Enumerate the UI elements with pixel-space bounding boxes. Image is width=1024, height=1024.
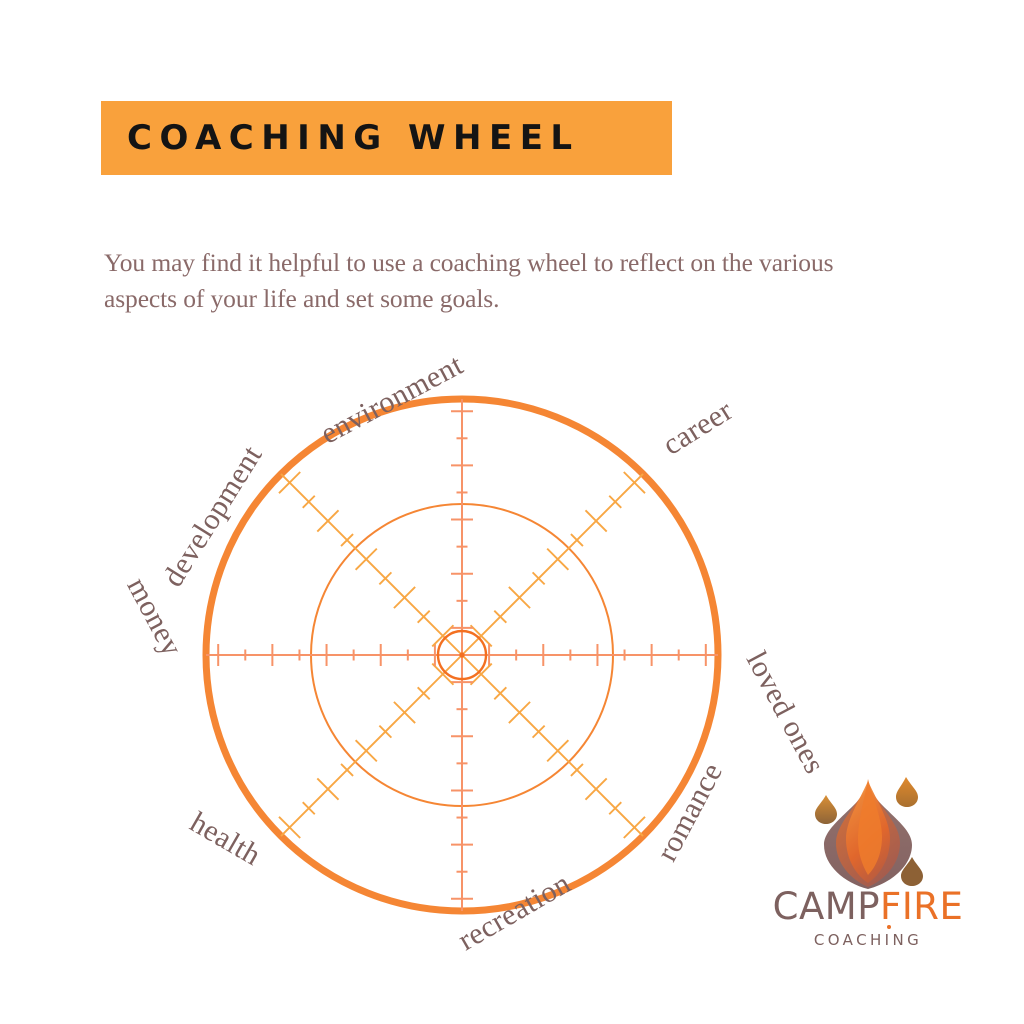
wheel-spoke-romance xyxy=(462,655,645,838)
logo-subtitle-part-b: NG xyxy=(892,931,922,949)
wheel-label-development: development xyxy=(156,440,269,593)
wheel-center-dot xyxy=(459,652,464,657)
wheel-label-health: health xyxy=(184,806,266,872)
logo-word-fire: FIRE xyxy=(880,885,963,928)
logo-word-camp: CAMP xyxy=(773,885,880,928)
campfire-logo: CAMPFIRE COACHING xyxy=(752,775,984,970)
logo-subtitle-i: I xyxy=(885,931,893,949)
wheel-spoke-recreation xyxy=(451,655,473,911)
wheel-spoke-development xyxy=(279,472,462,655)
page-title: COACHING WHEEL xyxy=(101,121,580,155)
logo-subtitle: COACHING xyxy=(752,933,984,948)
wheel-labels: careerloved onesromancerecreationhealthm… xyxy=(120,348,831,957)
intro-paragraph: You may find it helpful to use a coachin… xyxy=(104,245,904,317)
wheel-spoke-money xyxy=(206,644,462,666)
wheel-spoke-environment xyxy=(451,399,473,655)
logo-wordmark: CAMPFIRE xyxy=(752,888,984,925)
campfire-flame-logo-icon xyxy=(800,775,936,893)
title-band: COACHING WHEEL xyxy=(101,101,672,175)
logo-subtitle-part-a: COACH xyxy=(814,931,885,949)
wheel-label-loved-ones: loved ones xyxy=(740,646,832,779)
wheel-spoke-career xyxy=(462,472,645,655)
wheel-spoke-health xyxy=(279,655,462,838)
wheel-label-career: career xyxy=(657,394,739,462)
wheel-grid xyxy=(206,399,718,911)
wheel-spoke-loved-ones xyxy=(462,644,718,666)
